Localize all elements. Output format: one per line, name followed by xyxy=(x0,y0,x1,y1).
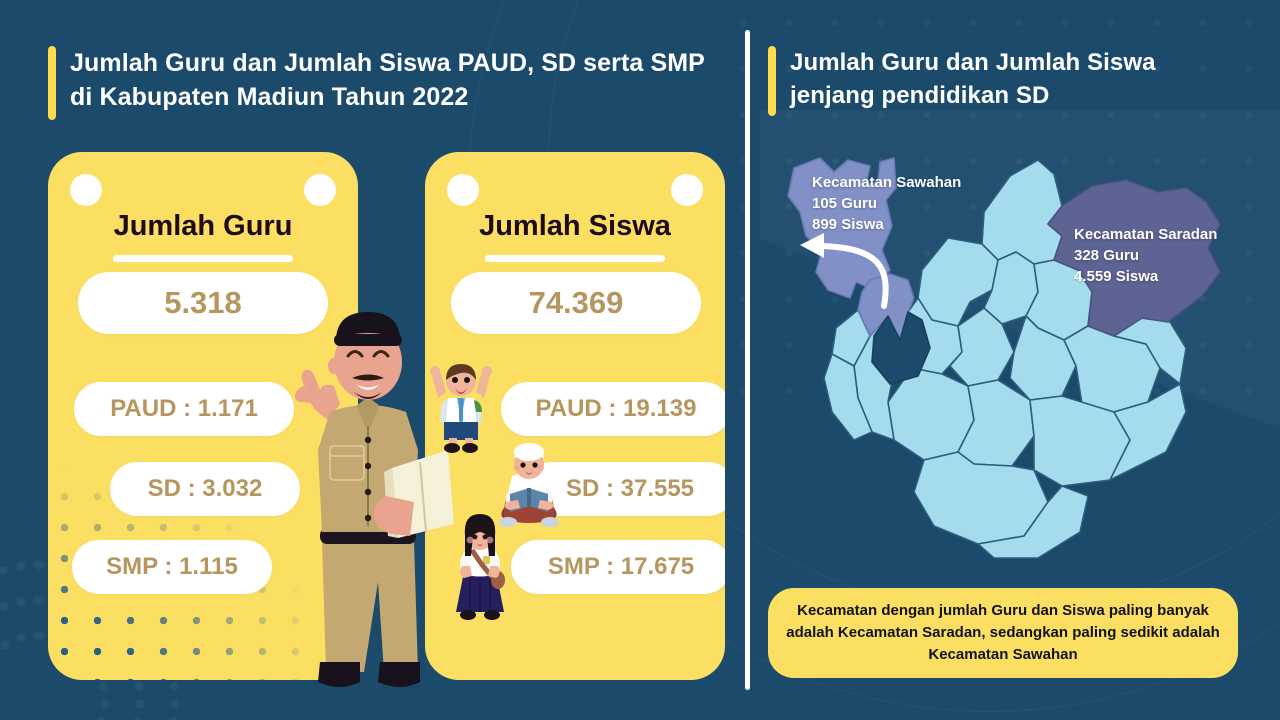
card-title-underline xyxy=(113,255,293,262)
infographic-canvas: Jumlah Guru dan Jumlah Siswa PAUD, SD se… xyxy=(0,0,1280,720)
siswa-paud-row: PAUD : 19.139 xyxy=(501,382,725,436)
title-accent-bar xyxy=(768,46,776,116)
guru-sd-row: SD : 3.032 xyxy=(110,462,300,516)
map-label-saradan-siswa: 4.559 Siswa xyxy=(1074,266,1217,287)
siswa-total-value: 74.369 xyxy=(451,272,701,334)
card-hole-left-icon xyxy=(70,174,102,206)
card-hole-right-icon xyxy=(671,174,703,206)
stat-card-guru: Jumlah Guru 5.318 PAUD : 1.171 SD : 3.03… xyxy=(48,152,358,680)
map-label-sawahan: Kecamatan Sawahan 105 Guru 899 Siswa xyxy=(812,172,961,235)
card-title: Jumlah Siswa xyxy=(425,210,725,243)
map-summary-note: Kecamatan dengan jumlah Guru dan Siswa p… xyxy=(768,588,1238,678)
card-title-underline xyxy=(485,255,665,262)
page-title: Jumlah Guru dan Jumlah Siswa PAUD, SD se… xyxy=(70,46,708,114)
panel-divider xyxy=(745,30,750,690)
guru-paud-row: PAUD : 1.171 xyxy=(74,382,294,436)
stat-card-siswa: Jumlah Siswa 74.369 PAUD : 19.139 SD : 3… xyxy=(425,152,725,680)
card-hole-left-icon xyxy=(447,174,479,206)
left-panel-title: Jumlah Guru dan Jumlah Siswa PAUD, SD se… xyxy=(48,46,708,120)
map-label-saradan-guru: 328 Guru xyxy=(1074,245,1217,266)
card-hole-right-icon xyxy=(304,174,336,206)
map-label-sawahan-guru: 105 Guru xyxy=(812,193,961,214)
siswa-smp-row: SMP : 17.675 xyxy=(511,540,725,594)
map-label-saradan-name: Kecamatan Saradan xyxy=(1074,224,1217,245)
map-label-sawahan-name: Kecamatan Sawahan xyxy=(812,172,961,193)
card-title: Jumlah Guru xyxy=(48,210,358,243)
guru-smp-row: SMP : 1.115 xyxy=(72,540,272,594)
map-label-sawahan-siswa: 899 Siswa xyxy=(812,214,961,235)
title-accent-bar xyxy=(48,46,56,120)
map-section-title: Jumlah Guru dan Jumlah Siswa jenjang pen… xyxy=(790,46,1238,112)
siswa-sd-row: SD : 37.555 xyxy=(525,462,725,516)
map-label-saradan: Kecamatan Saradan 328 Guru 4.559 Siswa xyxy=(1074,224,1217,287)
map-region-north xyxy=(982,160,1062,264)
guru-total-value: 5.318 xyxy=(78,272,328,334)
right-panel-title: Jumlah Guru dan Jumlah Siswa jenjang pen… xyxy=(768,46,1238,116)
